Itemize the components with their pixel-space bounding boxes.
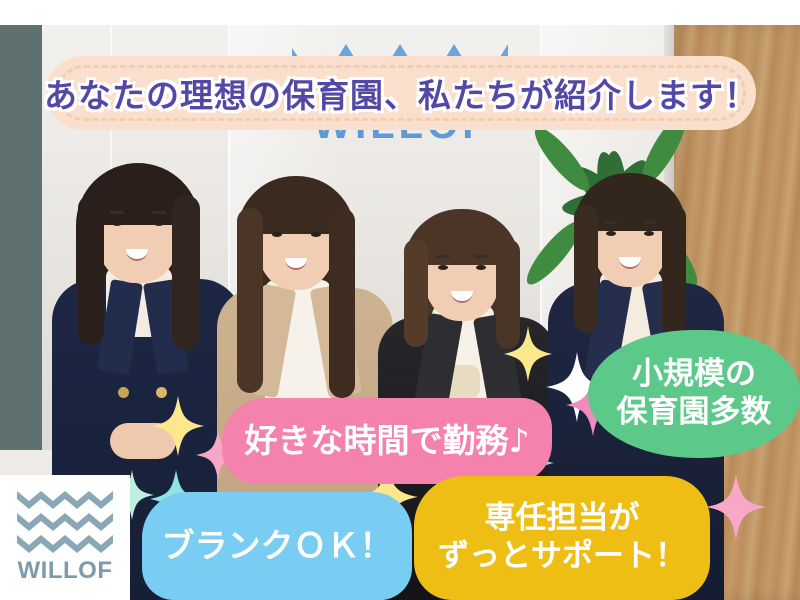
headline-banner: あなたの理想の保育園、私たちが紹介します！	[46, 56, 756, 130]
sparkle-pink-icon	[706, 474, 766, 540]
logo-text: WILLOF	[18, 557, 113, 585]
willof-logo-card: WILLOF	[0, 475, 130, 600]
bubble-flexible-hours: 好きな時間で勤務♪	[222, 398, 552, 484]
willof-zigzag-icon	[17, 491, 113, 553]
recruitment-ad-banner: WILLOF	[0, 0, 800, 600]
headline-text: あなたの理想の保育園、私たちが紹介します！	[46, 56, 756, 130]
sparkle-yellow-icon	[504, 326, 552, 382]
bubble-small-nursery: 小規模の 保育園多数	[588, 330, 800, 458]
bubble-dedicated-support: 専任担当が ずっとサポート！	[414, 476, 710, 600]
bubble-blank-ok: ブランクＯＫ！	[142, 492, 412, 600]
top-white-band	[0, 0, 800, 25]
